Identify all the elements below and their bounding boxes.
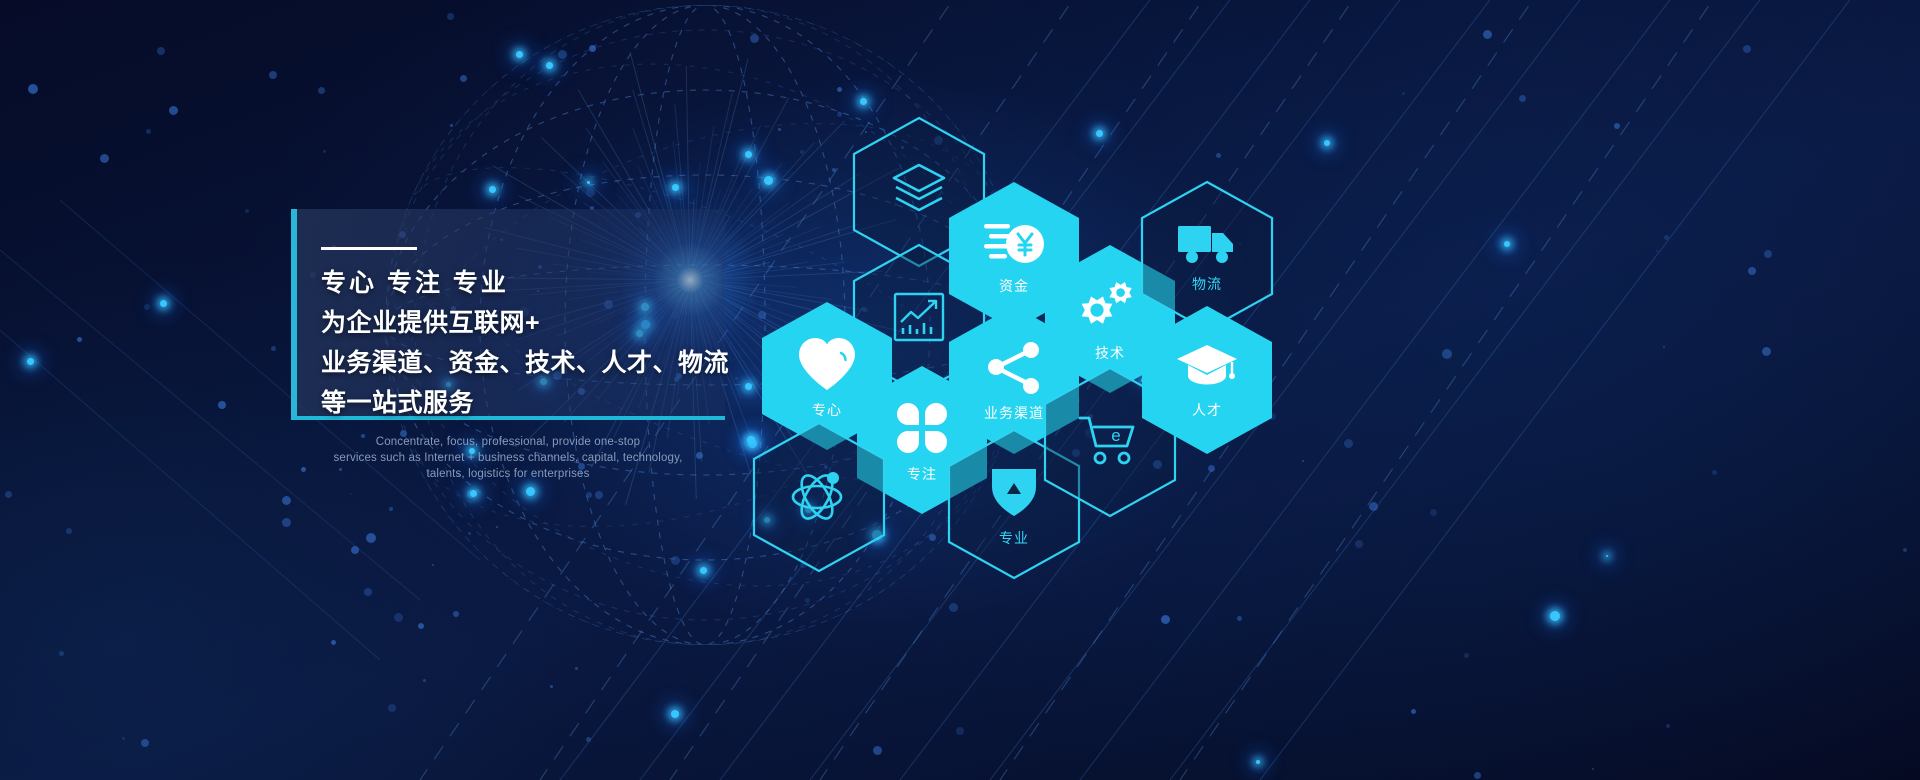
hero-banner: 专心 专注 专业 为企业提供互联网+ 业务渠道、资金、技术、人才、物流 等一站式… bbox=[0, 0, 1920, 780]
hex-content-atom bbox=[752, 421, 886, 573]
hex-label-zhuanzhu: 专注 bbox=[907, 467, 937, 481]
truck-icon bbox=[1176, 221, 1238, 272]
atom-icon bbox=[787, 465, 851, 530]
hex-label-zhuanye: 专业 bbox=[999, 531, 1029, 545]
heart-icon bbox=[795, 335, 859, 398]
clover-icon bbox=[893, 399, 951, 462]
hex-label-rencai: 人才 bbox=[1192, 403, 1222, 417]
layers-icon bbox=[888, 161, 950, 224]
hex-content-rencai: 人才 bbox=[1140, 304, 1274, 456]
hex-tile-atom[interactable] bbox=[752, 421, 886, 573]
money-yuan-icon bbox=[983, 219, 1045, 274]
gears-icon bbox=[1079, 278, 1141, 341]
hex-label-wuliu: 物流 bbox=[1192, 277, 1222, 291]
share-nodes-icon bbox=[985, 340, 1043, 401]
ecommerce-cart-icon: e bbox=[1078, 414, 1142, 471]
hexagon-cluster: 专心 专注 bbox=[0, 0, 1920, 780]
chart-growth-icon bbox=[891, 288, 947, 351]
graduation-cap-icon bbox=[1175, 343, 1239, 398]
hex-label-jishu: 技术 bbox=[1095, 346, 1125, 360]
svg-text:e: e bbox=[1111, 426, 1120, 445]
gem-icon bbox=[986, 463, 1042, 526]
hex-tile-rencai[interactable]: 人才 bbox=[1140, 304, 1274, 456]
hex-label-zijin: 资金 bbox=[999, 279, 1029, 293]
hex-label-zhuanxin: 专心 bbox=[812, 403, 842, 417]
hex-label-yewu: 业务渠道 bbox=[984, 406, 1044, 420]
